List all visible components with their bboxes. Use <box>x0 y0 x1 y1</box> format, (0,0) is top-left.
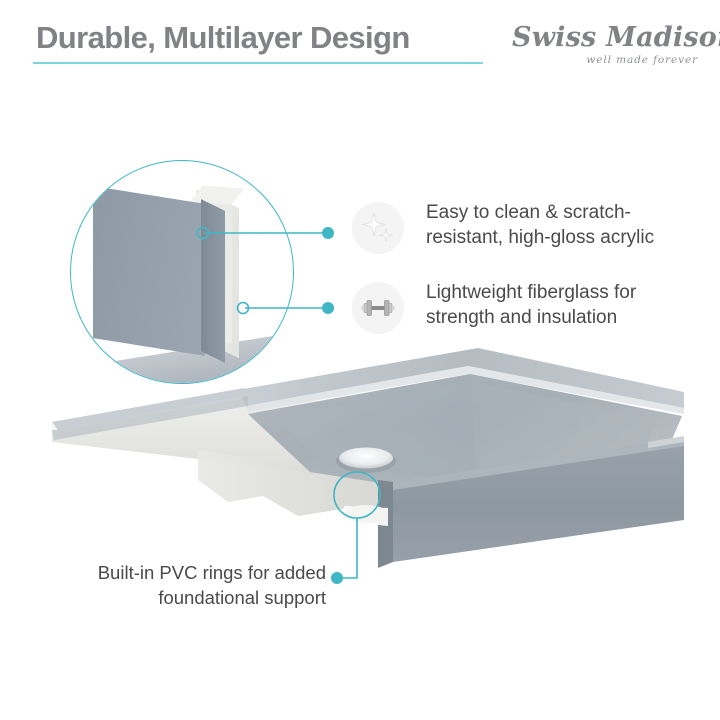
title-underline <box>33 62 483 64</box>
magnifier-circle-cross-section <box>70 160 294 384</box>
dumbbell-icon <box>359 289 397 327</box>
page-title: Durable, Multilayer Design <box>36 22 410 53</box>
feature-label-acrylic: Easy to clean & scratch-resistant, high-… <box>426 200 694 250</box>
pvc-callout-label: Built-in PVC rings for added foundationa… <box>40 560 326 610</box>
brand-wordmark: Swiss Madison® <box>512 24 702 51</box>
feature-label-fiberglass: Lightweight fiberglass for strength and … <box>426 280 694 330</box>
pvc-ring-notch <box>344 505 388 526</box>
acrylic-layer-slab <box>93 186 205 356</box>
fiberglass-layer-top <box>190 185 244 204</box>
header-bar: Durable, Multilayer Design Swiss Madison… <box>0 0 720 90</box>
brand-tagline: well made forever <box>512 54 702 66</box>
infographic-canvas: Durable, Multilayer Design Swiss Madison… <box>0 0 720 720</box>
connector-endpoint-dot-acrylic <box>322 227 334 239</box>
drain-hole <box>339 448 393 469</box>
sparkle-shine-icon <box>360 210 396 246</box>
acrylic-layer-edge <box>201 199 225 363</box>
dumbbell-icon-badge <box>352 282 404 334</box>
connector-endpoint-dot-fiberglass <box>322 302 334 314</box>
sparkle-shine-icon-badge <box>352 202 404 254</box>
brand-logo: Swiss Madison® well made forever <box>512 24 702 76</box>
brand-wordmark-text: Swiss Madison <box>512 22 720 53</box>
feature-item-fiberglass: Lightweight fiberglass for strength and … <box>352 280 702 334</box>
feature-list: Easy to clean & scratch-resistant, high-… <box>352 200 702 360</box>
feature-item-acrylic: Easy to clean & scratch-resistant, high-… <box>352 200 702 254</box>
